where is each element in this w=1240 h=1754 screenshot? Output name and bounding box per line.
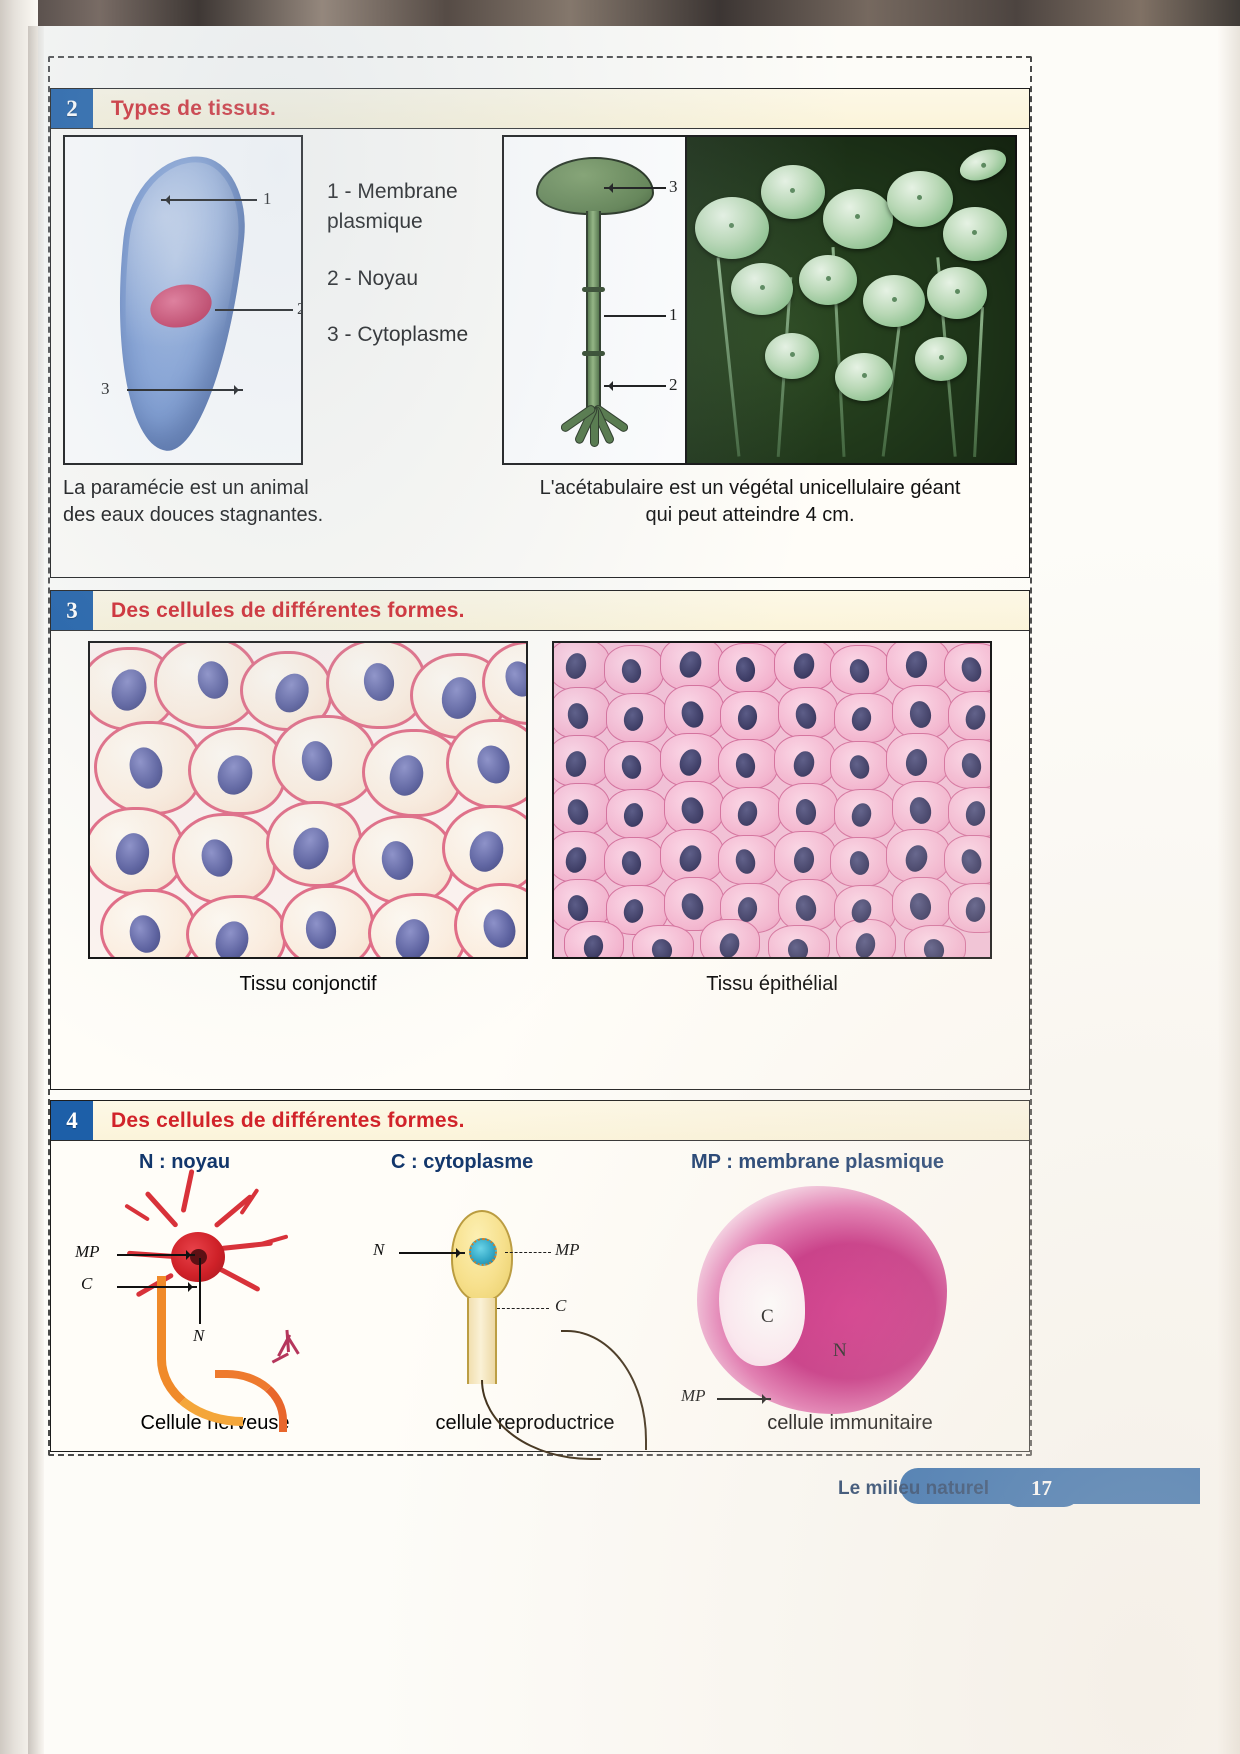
sperm-leader-mp: [505, 1252, 551, 1253]
section-title: Types de tissus.: [93, 89, 1029, 128]
neuron-leader-mp: [117, 1254, 195, 1256]
neuron-label-c: C: [81, 1274, 92, 1294]
acetabularia-block: 3 1 2: [483, 135, 1017, 465]
neuron-label-mp: MP: [75, 1242, 100, 1262]
caption-tissu-conjonctif: Tissu conjonctif: [88, 973, 528, 996]
caption-paramecium: La paramécie est un animal des eaux douc…: [63, 475, 483, 529]
immune-label-n: N: [833, 1340, 847, 1362]
acetabularia-diagram-panel: 3 1 2: [502, 135, 687, 465]
sperm-leader-n: [399, 1252, 465, 1254]
legend-item-1: 1 - Membrane plasmique: [327, 177, 483, 238]
caption-paramecium-line2: des eaux douces stagnantes.: [63, 502, 483, 529]
sperm-leader-c: [497, 1308, 549, 1309]
footer-chapter-title: Le milieu naturel: [838, 1478, 989, 1500]
immune-label-c: C: [761, 1306, 774, 1328]
acetabularia-rhizoid: [562, 405, 626, 449]
legend-item-1-line2: plasmique: [327, 210, 423, 233]
legend-membrane-plasmique: MP : membrane plasmique: [691, 1151, 989, 1174]
diagram-cellule-nerveuse: MP C N: [65, 1180, 365, 1410]
section-number-badge: 3: [51, 591, 93, 630]
micrograph-tissu-conjonctif: [88, 641, 528, 959]
section-header: 3 Des cellules de différentes formes.: [51, 591, 1029, 631]
neuron-label-n: N: [193, 1326, 204, 1346]
acetabularia-node-2: [582, 351, 605, 356]
sperm-nucleus: [469, 1238, 497, 1266]
caption-acetabularia-line1: L'acétabulaire est un végétal unicellula…: [483, 475, 1017, 502]
caption-cellule-immunitaire: cellule immunitaire: [685, 1412, 1015, 1435]
leader-line-1: [161, 199, 257, 201]
scan-edge-right: [1218, 26, 1240, 1754]
paramecium-block: 1 2 3 1 - Membrane plasmique 2 - Noyau 3…: [63, 135, 483, 465]
leader-line-2: [215, 309, 293, 311]
section-cellules-formes-4: 4 Des cellules de différentes formes. N …: [50, 1100, 1030, 1452]
caption-acetabularia: L'acétabulaire est un végétal unicellula…: [483, 475, 1017, 529]
micrograph-tissu-epithelial: [552, 641, 992, 959]
sperm-label-n: N: [373, 1240, 384, 1260]
acetabularia-photograph: [687, 135, 1017, 465]
section-header: 2 Types de tissus.: [51, 89, 1029, 129]
acetabularia-node-1: [582, 287, 605, 292]
paramecium-image-panel: 1 2 3: [63, 135, 303, 465]
neuron-axon-lower: [215, 1370, 287, 1432]
sperm-tail-upper: [561, 1330, 647, 1450]
section3-images: [51, 631, 1029, 959]
legend-item-3: 3 - Cytoplasme: [327, 320, 483, 350]
acetabularia-cap: [536, 157, 654, 215]
acetabularia-label-1: 1: [669, 305, 678, 325]
legend-item-1-line1: 1 - Membrane: [327, 180, 458, 203]
section-title: Des cellules de différentes formes.: [93, 1101, 1029, 1140]
neuron-leader-c: [117, 1286, 197, 1288]
section2-captions: La paramécie est un animal des eaux douc…: [51, 465, 1029, 529]
immune-label-mp: MP: [681, 1386, 706, 1406]
legend-cytoplasme: C : cytoplasme: [391, 1151, 691, 1174]
paramecium-label-2: 2: [297, 299, 303, 319]
paramecium-label-3: 3: [101, 379, 110, 399]
section2-content-row: 1 2 3 1 - Membrane plasmique 2 - Noyau 3…: [51, 129, 1029, 465]
section-cellules-formes-3: 3 Des cellules de différentes formes.: [50, 590, 1030, 1090]
sperm-label-mp: MP: [555, 1240, 580, 1260]
section-header: 4 Des cellules de différentes formes.: [51, 1101, 1029, 1141]
photo-cellule-immunitaire: C N MP: [685, 1180, 1015, 1410]
legend-noyau: N : noyau: [91, 1151, 391, 1174]
section4-legend: N : noyau C : cytoplasme MP : membrane p…: [51, 1141, 1029, 1174]
neuron-leader-n: [199, 1258, 201, 1324]
immune-cell-body: [697, 1186, 947, 1414]
acetabularia-label-3: 3: [669, 177, 678, 197]
paramecium-label-1: 1: [263, 189, 272, 209]
diagram-cellule-reproductrice: N MP C: [365, 1180, 685, 1410]
caption-paramecium-line1: La paramécie est un animal: [63, 475, 483, 502]
acetabularia-stalk: [586, 211, 601, 411]
legend-item-2: 2 - Noyau: [327, 264, 483, 294]
caption-acetabularia-line2: qui peut atteindre 4 cm.: [483, 502, 1017, 529]
leader-line-3: [127, 389, 243, 391]
section4-diagrams: MP C N N MP C C N: [51, 1174, 1029, 1410]
sperm-midpiece: [467, 1298, 497, 1384]
scan-edge-top: [0, 0, 1240, 26]
section3-captions: Tissu conjonctif Tissu épithélial: [51, 959, 1029, 996]
section-title: Des cellules de différentes formes.: [93, 591, 1029, 630]
section-number-badge: 4: [51, 1101, 93, 1140]
section-number-badge: 2: [51, 89, 93, 128]
section-types-de-tissus: 2 Types de tissus. 1 2 3 1 - Membrane pl…: [50, 88, 1030, 578]
section2-legend: 1 - Membrane plasmique 2 - Noyau 3 - Cyt…: [303, 135, 483, 465]
immune-cell-cytoplasm-notch: [719, 1244, 805, 1366]
leader-line-a3: [604, 187, 666, 189]
page-footer: Le milieu naturel 17: [0, 1470, 1080, 1507]
neuron-soma: [171, 1232, 225, 1282]
acetabularia-label-2: 2: [669, 375, 678, 395]
leader-line-a1: [604, 315, 666, 317]
immune-leader-mp: [717, 1398, 771, 1400]
leader-line-a2: [604, 385, 666, 387]
caption-tissu-epithelial: Tissu épithélial: [552, 973, 992, 996]
page-number-badge: 17: [1003, 1470, 1080, 1507]
sperm-label-c: C: [555, 1296, 566, 1316]
